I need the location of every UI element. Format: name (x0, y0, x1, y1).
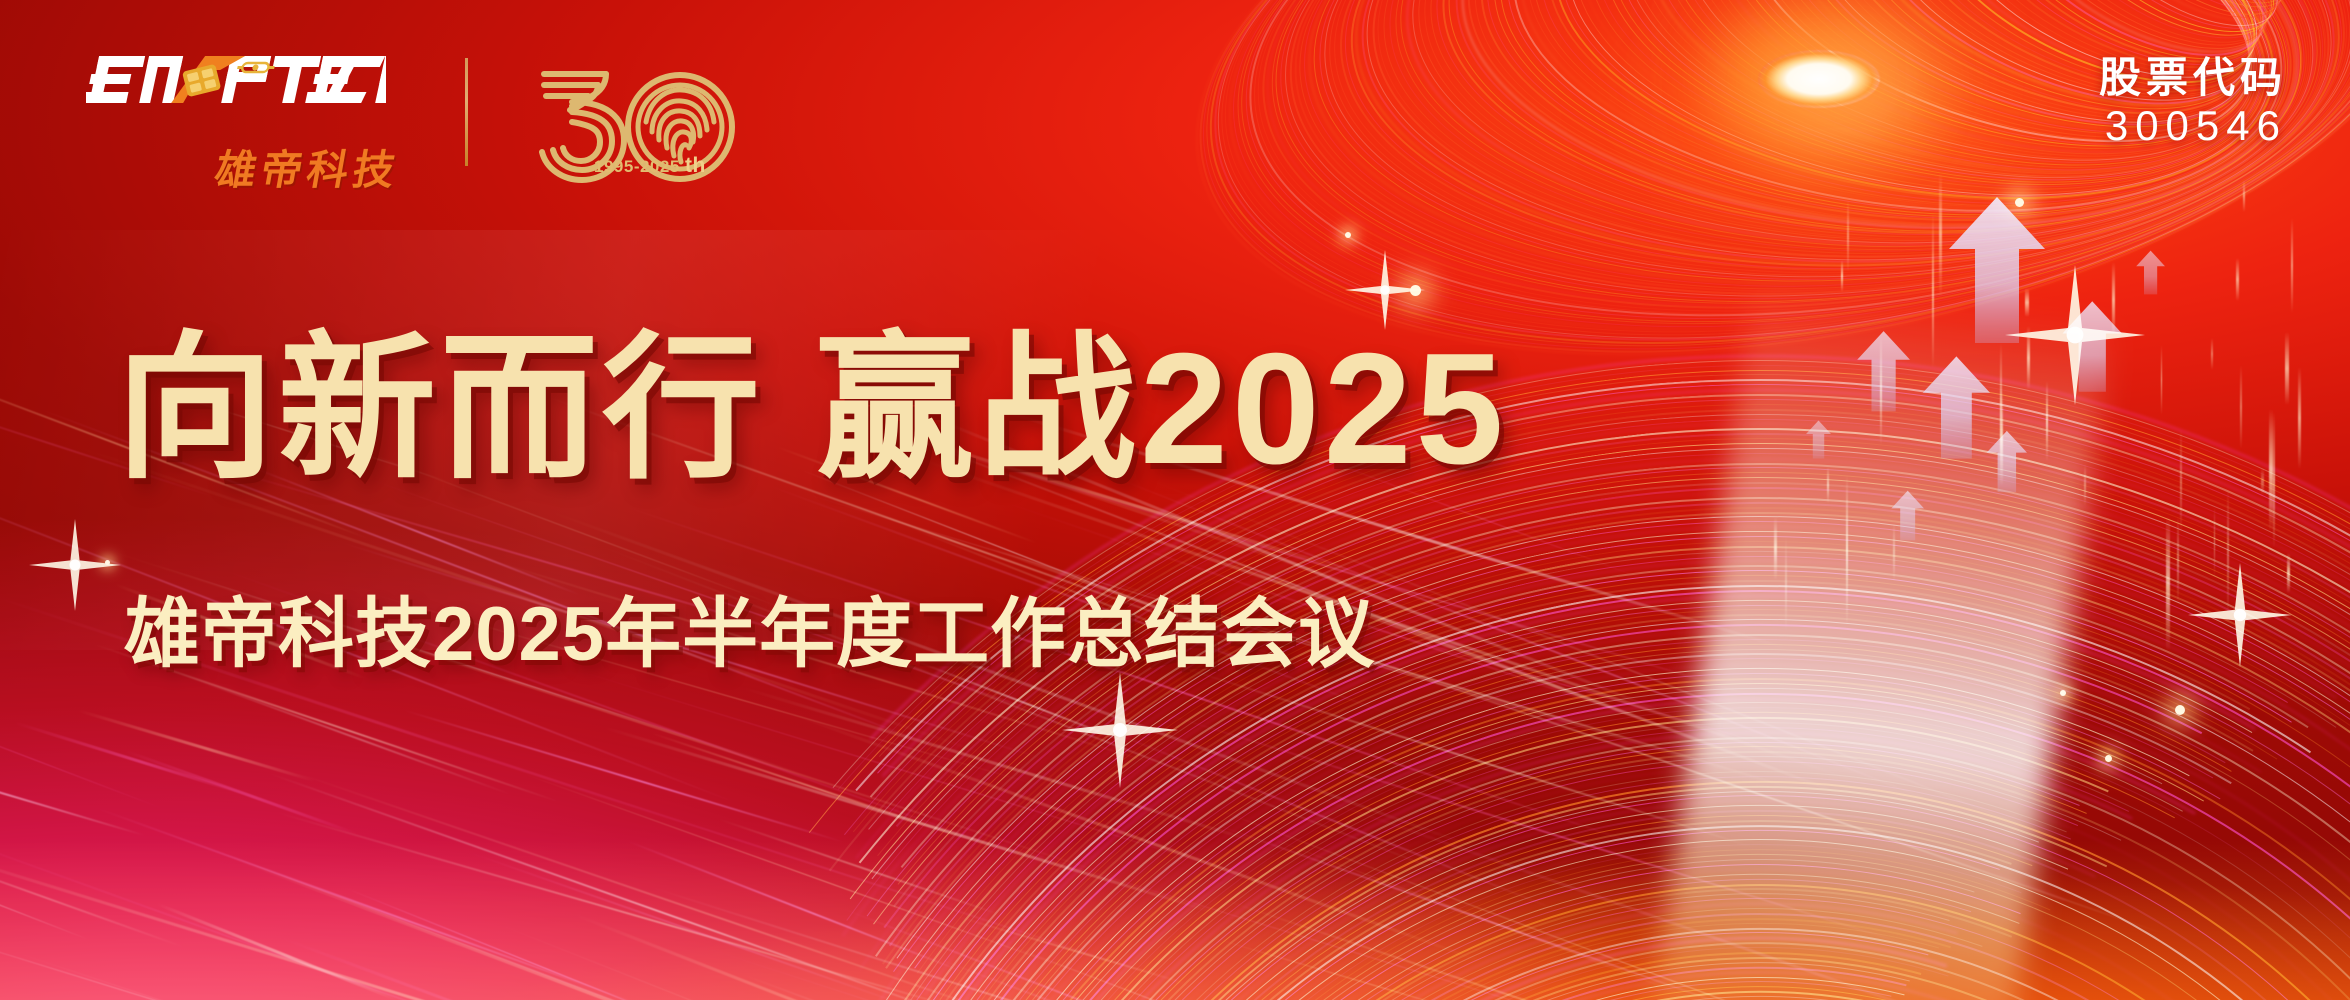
logo-chinese-name: 雄帝科技 (211, 136, 406, 196)
headline-part-1: 向新而行 (116, 321, 764, 497)
light-particle-bar (1841, 260, 1843, 292)
light-particle-bar (1939, 173, 1942, 297)
stock-code-label: 股票代码 (2099, 54, 2287, 101)
sparkle-icon (2075, 335, 2077, 337)
anniversary-year-range: 1995-2025 th (594, 154, 706, 178)
page-subtitle: 雄帝科技2025年半年度工作总结会议 (124, 572, 1375, 682)
light-particle-bar (1880, 336, 1882, 445)
light-particle-bar (2161, 345, 2163, 415)
light-particle-bar (2273, 412, 2276, 547)
light-particle-bar (2027, 326, 2030, 390)
brand-logo: 雄帝科技 (86, 52, 506, 192)
anniversary-suffix: th (685, 154, 706, 177)
smartcard-chip-icon (182, 64, 221, 97)
light-particle-bar (2298, 367, 2301, 469)
page-title: 向新而行赢战2025 (116, 330, 1508, 488)
stock-code-block: 股票代码 300546 (2099, 54, 2287, 151)
emptech-wordmark-svg (86, 52, 386, 114)
light-particle-bar (2000, 343, 2002, 461)
light-particle-bar (2236, 258, 2239, 301)
sparkle-dot (2105, 755, 2112, 762)
light-particle-bar (1847, 200, 1849, 271)
light-particle-bar (1785, 537, 1788, 631)
light-particle-bar (2166, 516, 2169, 651)
light-particle-bar (2046, 381, 2048, 461)
light-particle-bar (2177, 516, 2179, 605)
headline-part-2: 赢战2025 (816, 321, 1508, 497)
light-particle-bar (1932, 213, 1935, 368)
light-particle-bar (2243, 180, 2245, 212)
light-particle-bar (2291, 218, 2293, 314)
sparkle-icon (1120, 730, 1122, 732)
light-particle-bar (2025, 288, 2028, 317)
anniversary-badge: 1995-2025 th (528, 44, 748, 194)
light-particle-bar (2240, 365, 2243, 449)
sparkle-icon (75, 565, 77, 567)
sparkle-icon (1385, 290, 1387, 292)
light-particle-bar (2084, 464, 2087, 506)
banner-canvas: 雄帝科技 (0, 0, 2350, 1000)
light-particle-bar (2112, 262, 2115, 338)
sparkle-dot (2175, 705, 2185, 715)
light-particle-bar (2211, 338, 2213, 370)
sparkle-dot (1345, 232, 1351, 238)
logo-divider (465, 58, 468, 166)
light-particle-bar (2261, 468, 2264, 495)
light-particle-bar (2285, 332, 2288, 405)
light-particle-bar (1774, 517, 1777, 579)
light-particle-bar (2227, 488, 2230, 618)
light-particle-bar (2269, 409, 2272, 531)
anniversary-years: 1995-2025 (594, 157, 680, 176)
sparkle-dot (2015, 198, 2024, 207)
sparkle-dot (2060, 690, 2066, 696)
light-particle-bar (2180, 429, 2182, 533)
stock-code-value: 300546 (2099, 101, 2287, 151)
sparkle-icon (2240, 615, 2242, 617)
light-particle-bar (1827, 467, 1829, 503)
light-particle-bar (1893, 523, 1895, 581)
light-particle-bar (2287, 553, 2290, 593)
light-particle-bar (1846, 475, 1849, 626)
logo-wordmark (86, 52, 386, 114)
